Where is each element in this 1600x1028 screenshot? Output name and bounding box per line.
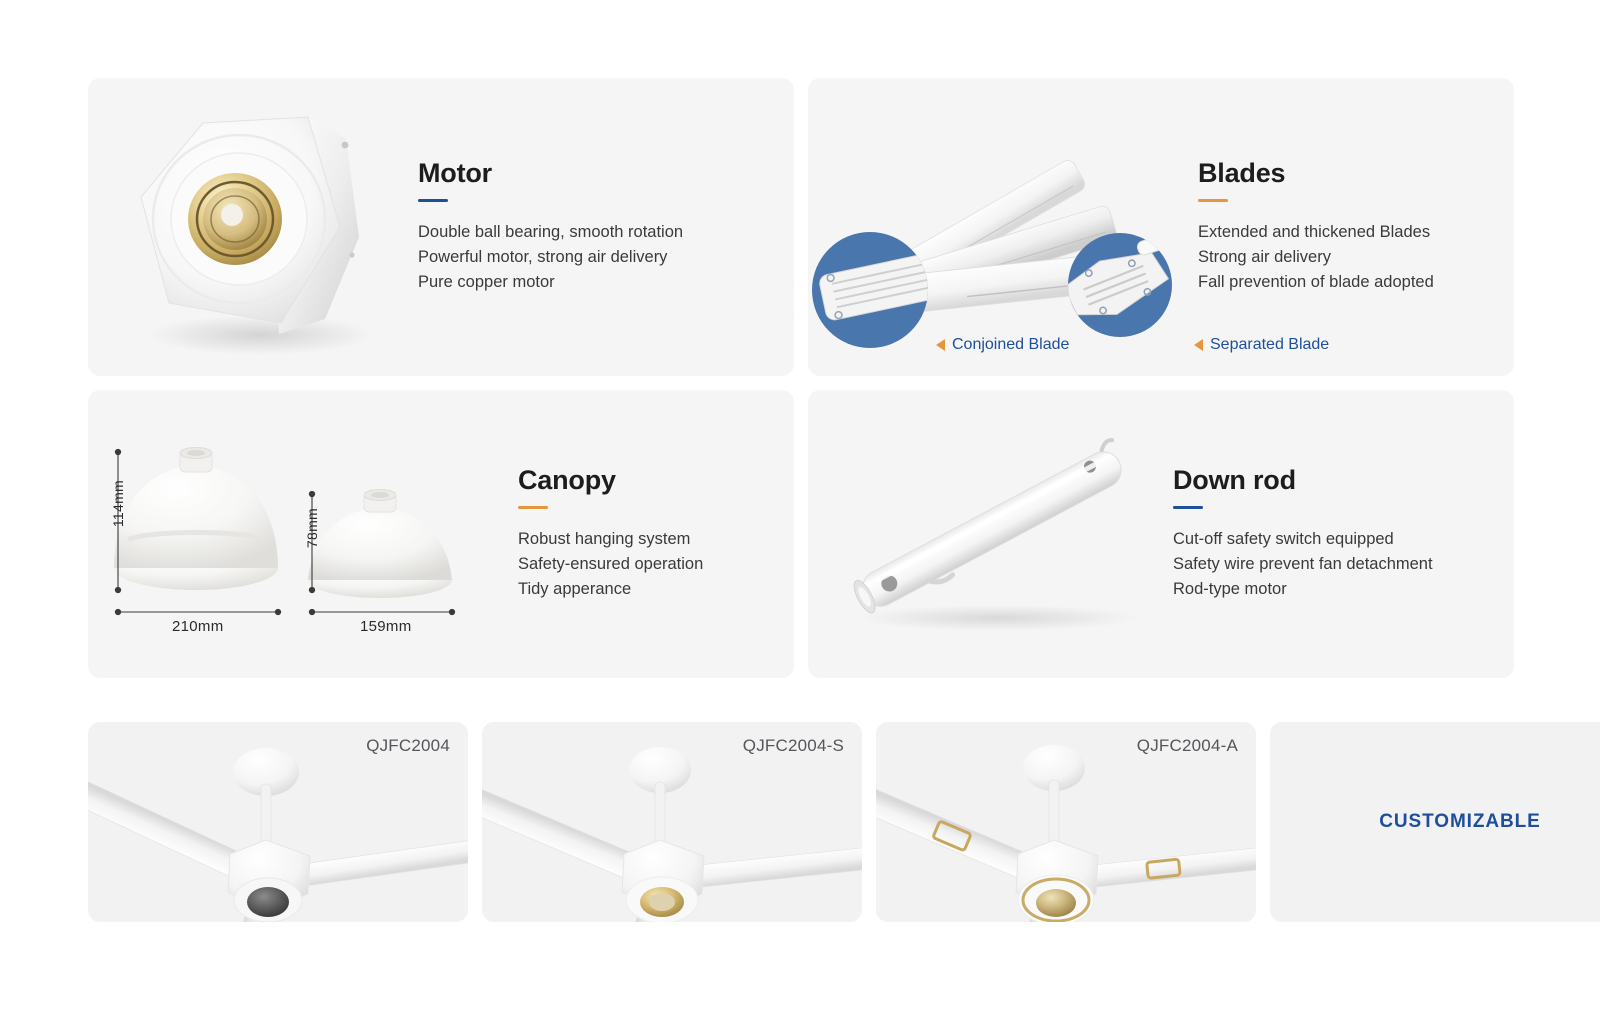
down-rod-bullets: Cut-off safety switch equipped Safety wi…: [1173, 527, 1496, 602]
feature-grid: Motor Double ball bearing, smooth rotati…: [88, 78, 1512, 678]
motor-bullets: Double ball bearing, smooth rotation Pow…: [418, 220, 776, 295]
callout-label: Separated Blade: [1210, 336, 1329, 354]
dimension-height-large: 114mm: [110, 480, 126, 527]
bullet: Cut-off safety switch equipped: [1173, 527, 1496, 552]
accent-bar-canopy: [518, 506, 548, 509]
callout-label: Conjoined Blade: [952, 336, 1069, 354]
motor-illustration: [103, 87, 403, 367]
accent-bar-motor: [418, 199, 448, 202]
product-tile-customizable[interactable]: CUSTOMIZABLE: [1270, 722, 1600, 922]
bullet: Extended and thickened Blades: [1198, 220, 1496, 245]
bullet: Powerful motor, strong air delivery: [418, 245, 776, 270]
triangle-left-icon: [1194, 339, 1203, 351]
dimension-width-small: 159mm: [360, 618, 412, 635]
callout-conjoined-blade: Conjoined Blade: [936, 336, 1069, 354]
down-rod-image: [808, 390, 1173, 678]
down-rod-illustration: [808, 390, 1173, 678]
feature-title-canopy: Canopy: [518, 466, 776, 496]
motor-image: [88, 78, 418, 376]
bullet: Tidy apperance: [518, 577, 776, 602]
canopy-bullets: Robust hanging system Safety-ensured ope…: [518, 527, 776, 602]
bullet: Double ball bearing, smooth rotation: [418, 220, 776, 245]
bullet: Robust hanging system: [518, 527, 776, 552]
bullet: Fall prevention of blade adopted: [1198, 270, 1496, 295]
bullet: Rod-type motor: [1173, 577, 1496, 602]
bullet: Safety wire prevent fan detachment: [1173, 552, 1496, 577]
motor-copy: Motor Double ball bearing, smooth rotati…: [418, 159, 794, 296]
down-rod-copy: Down rod Cut-off safety switch equipped …: [1173, 466, 1514, 603]
triangle-left-icon: [936, 339, 945, 351]
product-code: QJFC2004-A: [1137, 736, 1238, 756]
product-tile-qjfc2004-a[interactable]: QJFC2004-A: [876, 722, 1256, 922]
accent-bar-blades: [1198, 199, 1228, 202]
blades-bullets: Extended and thickened Blades Strong air…: [1198, 220, 1496, 295]
callout-separated-blade: Separated Blade: [1194, 336, 1329, 354]
bullet: Strong air delivery: [1198, 245, 1496, 270]
accent-bar-down-rod: [1173, 506, 1203, 509]
canopy-large: [114, 448, 278, 591]
canopy-small: [308, 490, 452, 599]
feature-title-down-rod: Down rod: [1173, 466, 1496, 496]
product-code: QJFC2004: [366, 736, 450, 756]
bullet: Safety-ensured operation: [518, 552, 776, 577]
feature-card-motor: Motor Double ball bearing, smooth rotati…: [88, 78, 794, 376]
feature-card-canopy: 114mm 210mm 78mm 159mm Canopy Robust han…: [88, 390, 794, 678]
dimension-width-large: 210mm: [172, 618, 224, 635]
canopy-copy: Canopy Robust hanging system Safety-ensu…: [518, 466, 794, 603]
product-variant-strip: QJFC2004: [88, 722, 1512, 922]
customizable-label: CUSTOMIZABLE: [1379, 811, 1540, 833]
blades-copy: Blades Extended and thickened Blades Str…: [1198, 159, 1514, 296]
canopy-illustration: [88, 390, 518, 678]
feature-title-motor: Motor: [418, 159, 776, 189]
canopy-image: 114mm 210mm 78mm 159mm: [88, 390, 518, 678]
blades-illustration: [808, 78, 1198, 376]
product-code: QJFC2004-S: [743, 736, 844, 756]
feature-card-down-rod: Down rod Cut-off safety switch equipped …: [808, 390, 1514, 678]
bullet: Pure copper motor: [418, 270, 776, 295]
rod-body: [847, 439, 1133, 620]
product-tile-qjfc2004-s[interactable]: QJFC2004-S: [482, 722, 862, 922]
feature-card-blades: Conjoined Blade Blades Extended and thic…: [808, 78, 1514, 376]
feature-title-blades: Blades: [1198, 159, 1496, 189]
blades-image: Conjoined Blade: [808, 78, 1198, 376]
product-tile-qjfc2004[interactable]: QJFC2004: [88, 722, 468, 922]
product-feature-page: Motor Double ball bearing, smooth rotati…: [0, 0, 1600, 1028]
dimension-height-small: 78mm: [304, 508, 320, 548]
